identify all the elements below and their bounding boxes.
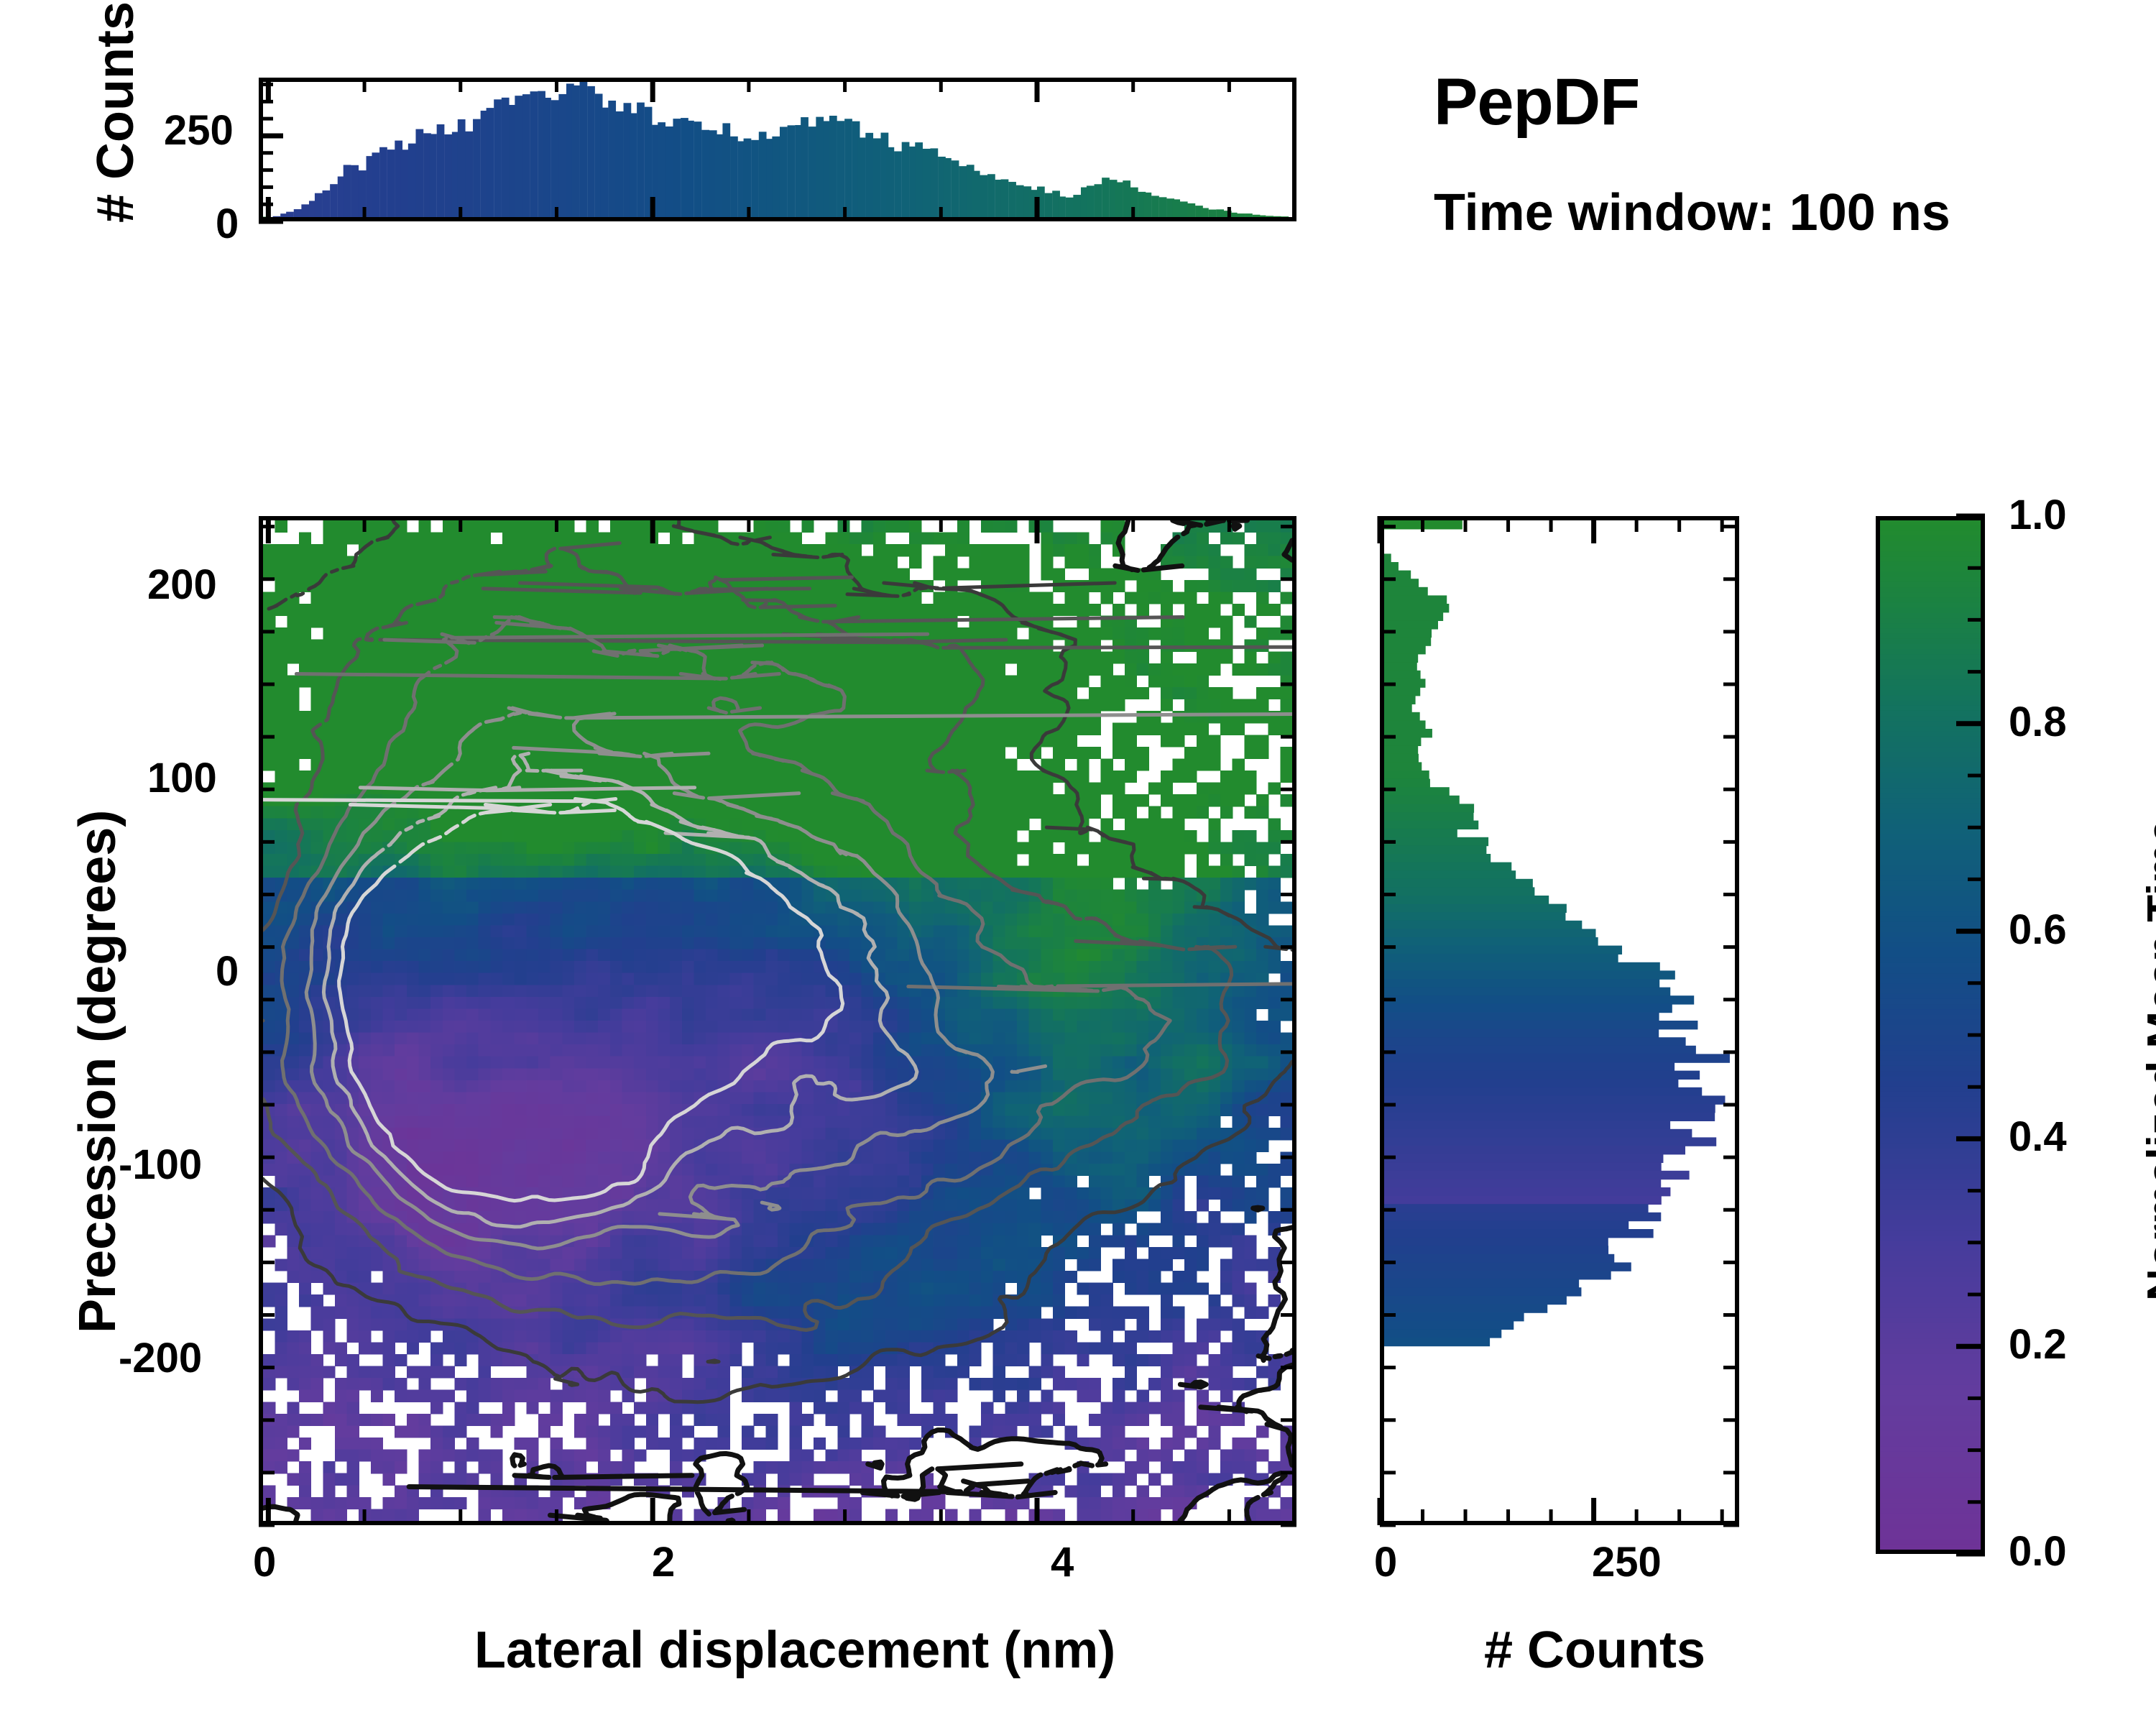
colorbar-tick-0-6: 0.6 [2009, 906, 2067, 954]
figure-canvas: 250 0 # Counts PepDF Time window: 100 ns… [0, 0, 2156, 1725]
top-marginal-histogram [259, 78, 1296, 221]
main-xtick-0: 0 [253, 1538, 276, 1586]
main-ylabel: Precession (degrees) [68, 810, 127, 1333]
right-hist-xtick-0: 0 [1374, 1538, 1397, 1586]
colorbar-tick-0-8: 0.8 [2009, 698, 2067, 746]
colorbar [1876, 516, 1985, 1554]
right-hist-xtick-250: 250 [1592, 1538, 1662, 1586]
top-hist-ytick-250: 250 [164, 106, 234, 155]
right-hist-xlabel: # Counts [1484, 1621, 1705, 1680]
top-hist-ytick-0: 0 [216, 200, 239, 248]
figure-subtitle: Time window: 100 ns [1434, 183, 1950, 242]
main-ytick-100: 100 [147, 754, 217, 802]
top-histogram-bars [263, 82, 1292, 217]
top-hist-ylabel: # Counts [86, 1, 145, 223]
heatmap-and-contours [263, 520, 1292, 1521]
main-ytick-0: 0 [216, 947, 239, 995]
main-xtick-4: 4 [1051, 1538, 1074, 1586]
colorbar-tick-0-2: 0.2 [2009, 1320, 2067, 1368]
main-xtick-2: 2 [652, 1538, 675, 1586]
main-ytick-neg100: -100 [119, 1141, 202, 1189]
main-xlabel: Lateral displacement (nm) [474, 1621, 1115, 1680]
right-histogram-bars [1384, 520, 1735, 1521]
figure-title: PepDF [1434, 65, 1639, 140]
main-ytick-neg200: -200 [119, 1334, 202, 1382]
colorbar-gradient [1880, 520, 1981, 1550]
colorbar-tick-0-4: 0.4 [2009, 1113, 2067, 1161]
right-marginal-histogram [1380, 516, 1739, 1525]
colorbar-label: Normalized Mean Time [2138, 819, 2156, 1301]
main-joint-distribution-panel [259, 516, 1296, 1525]
main-ytick-200: 200 [147, 561, 217, 609]
colorbar-tick-1-0: 1.0 [2009, 491, 2067, 539]
colorbar-tick-0-0: 0.0 [2009, 1527, 2067, 1575]
